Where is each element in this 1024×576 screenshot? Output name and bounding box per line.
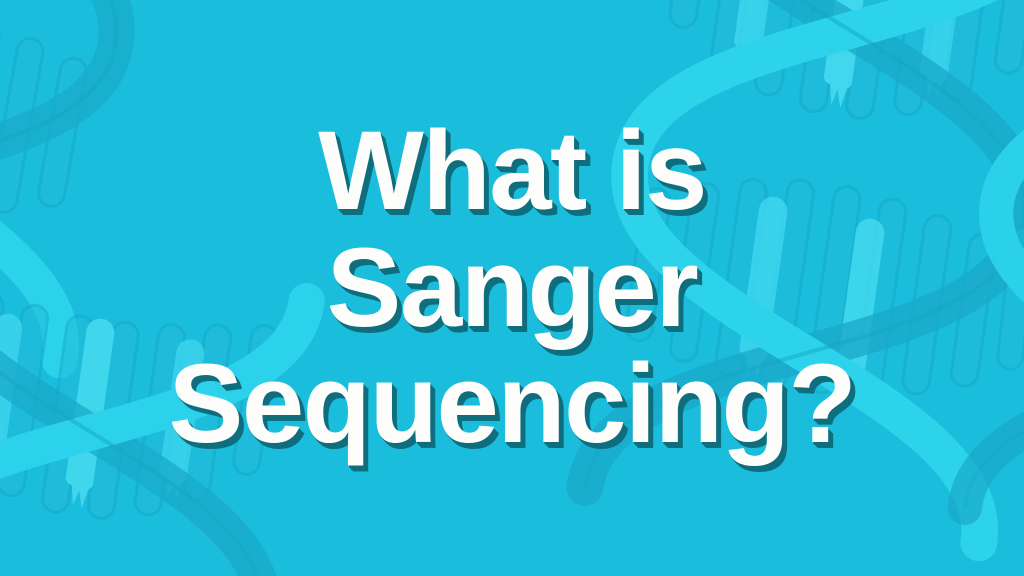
title-slide: What is Sanger Sequencing? [0, 0, 1024, 576]
title-line-2: Sanger [327, 233, 698, 344]
slide-title-block: What is Sanger Sequencing? [0, 0, 1024, 576]
title-line-1: What is [318, 116, 706, 227]
title-line-3: Sequencing? [169, 349, 856, 460]
